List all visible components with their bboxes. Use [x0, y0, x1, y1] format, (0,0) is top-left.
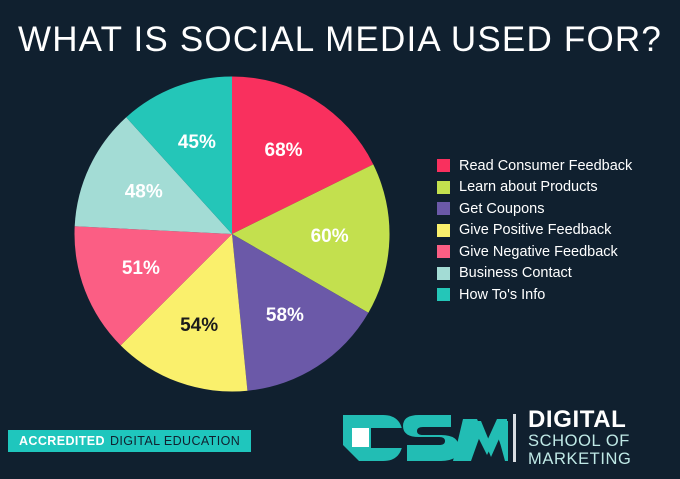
legend-item-label: Get Coupons [459, 201, 544, 217]
pie-chart-svg: 68%60%58%54%51%48%45% [74, 76, 390, 392]
legend-item[interactable]: Business Contact [437, 263, 667, 285]
legend-swatch-icon [437, 202, 450, 215]
legend-item[interactable]: How To's Info [437, 284, 667, 306]
legend-item-label: How To's Info [459, 287, 545, 303]
legend-swatch-icon [437, 224, 450, 237]
legend-swatch-icon [437, 288, 450, 301]
logo-line-school-of: SCHOOL OF [528, 432, 632, 450]
logo-d-counter [371, 428, 403, 448]
legend-swatch-icon [437, 181, 450, 194]
legend-item[interactable]: Learn about Products [437, 177, 667, 199]
pie-slice-value-label: 48% [125, 181, 163, 202]
logo-d-notch [352, 428, 369, 447]
pie-slice-value-label: 60% [311, 226, 349, 247]
legend-item-label: Give Positive Feedback [459, 222, 611, 238]
accredited-badge-strong: ACCREDITED [19, 434, 105, 448]
pie-chart: 68%60%58%54%51%48%45% [74, 76, 390, 392]
dsm-logo: DIGITAL SCHOOL OF MARKETING [341, 407, 659, 469]
pie-slice-value-label: 51% [122, 258, 160, 279]
pie-slice-value-label: 54% [180, 315, 218, 336]
legend-item[interactable]: Give Negative Feedback [437, 241, 667, 263]
legend-item-label: Give Negative Feedback [459, 244, 618, 260]
legend-swatch-icon [437, 245, 450, 258]
pie-slice-value-label: 45% [178, 132, 216, 153]
legend-item[interactable]: Read Consumer Feedback [437, 155, 667, 177]
legend-swatch-icon [437, 267, 450, 280]
pie-slice-value-label: 68% [265, 140, 303, 161]
page-title: WHAT IS SOCIAL MEDIA USED FOR? [0, 20, 680, 60]
infographic-canvas: WHAT IS SOCIAL MEDIA USED FOR? 68%60%58%… [0, 0, 680, 479]
dsm-logo-mark-icon [341, 409, 509, 467]
accredited-badge-rest: DIGITAL EDUCATION [110, 434, 240, 448]
legend-item-label: Business Contact [459, 265, 572, 281]
logo-wordmark: DIGITAL SCHOOL OF MARKETING [528, 408, 632, 469]
legend-item[interactable]: Get Coupons [437, 198, 667, 220]
legend-item-label: Learn about Products [459, 179, 598, 195]
logo-line-digital: DIGITAL [528, 408, 632, 432]
logo-line-marketing: MARKETING [528, 450, 632, 468]
legend-item-label: Read Consumer Feedback [459, 158, 632, 174]
logo-divider [513, 414, 516, 462]
legend-swatch-icon [437, 159, 450, 172]
legend-item[interactable]: Give Positive Feedback [437, 220, 667, 242]
logo-letter-s [403, 415, 459, 461]
pie-slice-value-label: 58% [266, 305, 304, 326]
accredited-badge: ACCREDITED DIGITAL EDUCATION [8, 430, 251, 452]
chart-legend: Read Consumer FeedbackLearn about Produc… [437, 155, 667, 306]
